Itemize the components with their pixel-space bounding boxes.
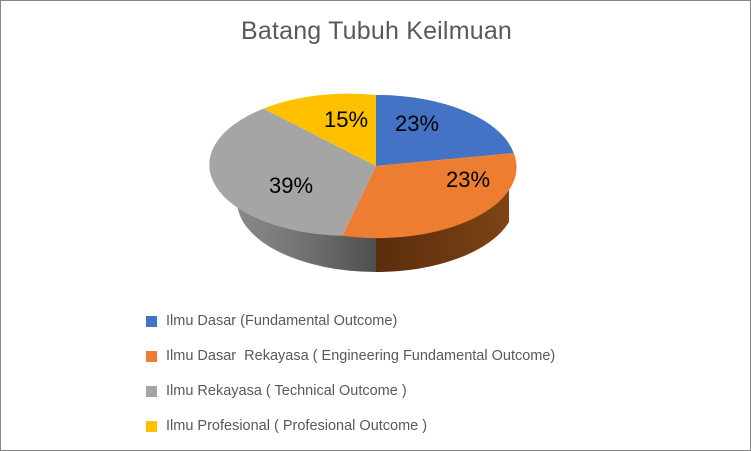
legend-label-ilmu-dasar-rekayasa: Ilmu Dasar Rekayasa ( Engineering Fundam… (166, 349, 555, 364)
legend-item-ilmu-dasar[interactable]: Ilmu Dasar (Fundamental Outcome) (146, 304, 726, 339)
legend-item-ilmu-rekayasa[interactable]: Ilmu Rekayasa ( Technical Outcome ) (146, 374, 726, 409)
legend-label-ilmu-dasar: Ilmu Dasar (Fundamental Outcome) (166, 314, 397, 329)
slice-label-ilmu-rekayasa: 39% (269, 173, 313, 199)
legend-item-ilmu-profesional[interactable]: Ilmu Profesional ( Profesional Outcome ) (146, 409, 726, 444)
legend-swatch-icon-ilmu-profesional (146, 421, 157, 432)
slice-label-ilmu-dasar: 23% (395, 111, 439, 137)
legend-swatch-icon-ilmu-dasar (146, 316, 157, 327)
legend-swatch-icon-ilmu-dasar-rekayasa (146, 351, 157, 362)
slice-label-ilmu-dasar-rekayasa: 23% (446, 167, 490, 193)
chart-legend: Ilmu Dasar (Fundamental Outcome) Ilmu Da… (146, 304, 726, 444)
legend-swatch-icon-ilmu-rekayasa (146, 386, 157, 397)
legend-label-ilmu-profesional: Ilmu Profesional ( Profesional Outcome ) (166, 419, 427, 434)
legend-item-ilmu-dasar-rekayasa[interactable]: Ilmu Dasar Rekayasa ( Engineering Fundam… (146, 339, 726, 374)
chart-container: Batang Tubuh Keilmuan (0, 0, 751, 451)
legend-label-ilmu-rekayasa: Ilmu Rekayasa ( Technical Outcome ) (166, 384, 407, 399)
slice-label-ilmu-profesional: 15% (324, 107, 368, 133)
